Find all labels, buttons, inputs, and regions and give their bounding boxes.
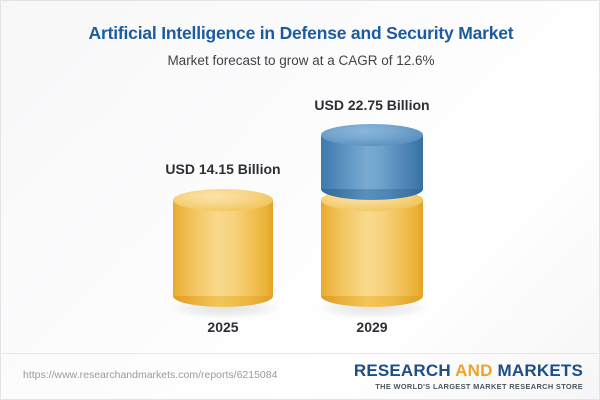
cylinder-body-2025 — [173, 200, 273, 296]
brand-logo: RESEARCH AND MARKETS THE WORLD'S LARGEST… — [354, 362, 583, 391]
brand-word-and: AND — [455, 361, 492, 380]
bar-value-label-2025: USD 14.15 Billion — [123, 161, 323, 177]
bar-segment-base-2025 — [173, 189, 273, 308]
cylinder-growth-top-face-2029 — [321, 124, 423, 146]
axis-label-2029: 2029 — [272, 319, 472, 335]
bar-value-label-2029: USD 22.75 Billion — [272, 97, 472, 113]
chart-plot-area: USD 14.15 Billion 2025 USD 22.75 Billion — [1, 1, 600, 353]
brand-word-research: RESEARCH — [354, 361, 451, 380]
bar-segment-growth-2029 — [321, 124, 423, 211]
cylinder-top-face-2025 — [173, 189, 273, 211]
cylinder-body-base-2029 — [321, 200, 423, 296]
footer: https://www.researchandmarkets.com/repor… — [1, 354, 600, 399]
brand-name: RESEARCH AND MARKETS — [354, 362, 583, 380]
infographic-canvas: Artificial Intelligence in Defense and S… — [0, 0, 600, 400]
brand-tagline: THE WORLD'S LARGEST MARKET RESEARCH STOR… — [354, 382, 583, 391]
report-url[interactable]: https://www.researchandmarkets.com/repor… — [23, 369, 277, 381]
brand-word-markets: MARKETS — [498, 361, 583, 380]
